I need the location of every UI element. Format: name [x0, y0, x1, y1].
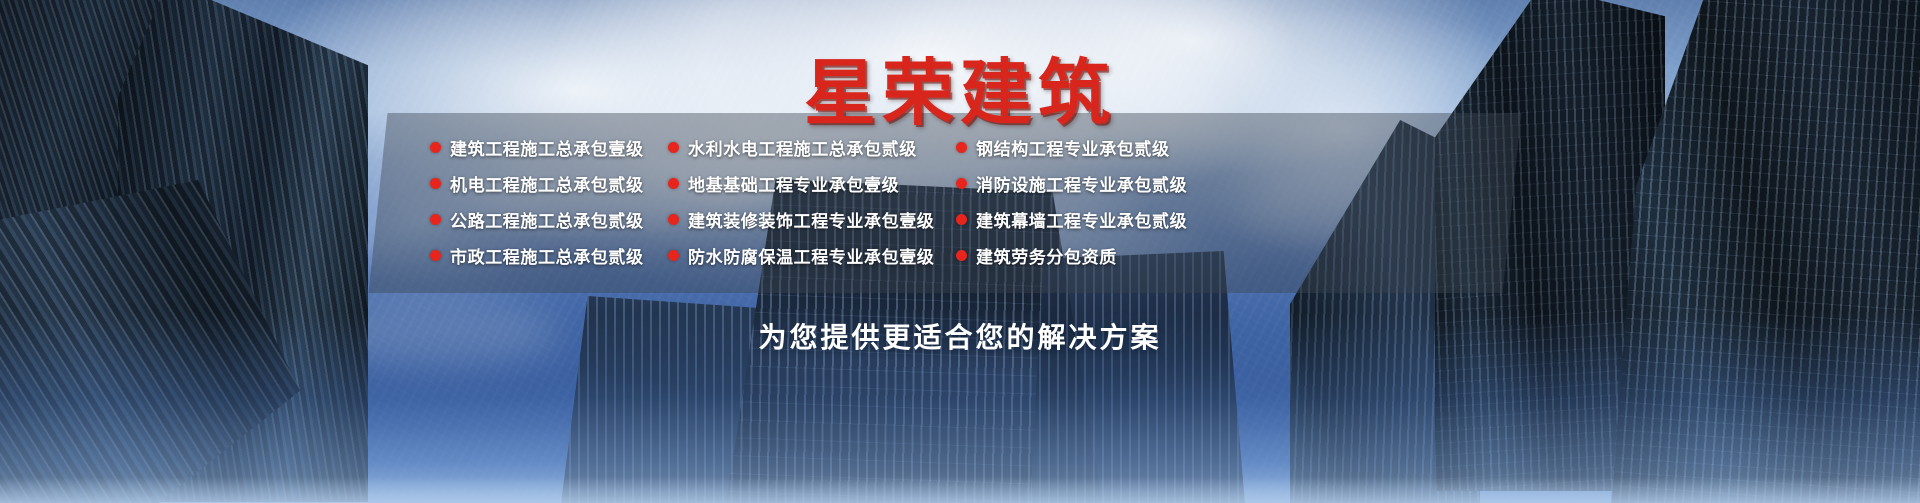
- company-title: 星荣建筑: [0, 34, 1920, 139]
- bullet-dot-icon: [668, 214, 679, 225]
- list-item: 地基基础工程专业承包壹级: [668, 171, 956, 195]
- qualification-label: 地基基础工程专业承包壹级: [688, 171, 899, 196]
- qualification-label: 建筑劳务分包资质: [976, 243, 1117, 268]
- bullet-dot-icon: [668, 142, 679, 153]
- list-item: 建筑幕墙工程专业承包贰级: [956, 207, 1196, 231]
- list-item: 机电工程施工总承包贰级: [430, 171, 668, 195]
- list-item: 建筑劳务分包资质: [956, 243, 1196, 267]
- qualification-column-3: 钢结构工程专业承包贰级 消防设施工程专业承包贰级 建筑幕墙工程专业承包贰级 建筑…: [956, 135, 1196, 293]
- qualification-label: 防水防腐保温工程专业承包壹级: [688, 243, 934, 268]
- qualification-label: 机电工程施工总承包贰级: [450, 171, 644, 196]
- bullet-dot-icon: [668, 250, 679, 261]
- banner-tagline: 为您提供更适合您的解决方案: [0, 316, 1920, 356]
- list-item: 建筑装修装饰工程专业承包壹级: [668, 207, 956, 231]
- bullet-dot-icon: [956, 142, 967, 153]
- bullet-dot-icon: [956, 214, 967, 225]
- qualification-label: 建筑幕墙工程专业承包贰级: [976, 207, 1187, 232]
- qualification-label: 消防设施工程专业承包贰级: [976, 171, 1187, 196]
- bullet-dot-icon: [956, 178, 967, 189]
- bullet-dot-icon: [430, 178, 441, 189]
- list-item: 消防设施工程专业承包贰级: [956, 171, 1196, 195]
- bullet-dot-icon: [430, 214, 441, 225]
- bullet-dot-icon: [430, 250, 441, 261]
- list-item: 防水防腐保温工程专业承包壹级: [668, 243, 956, 267]
- bullet-dot-icon: [956, 250, 967, 261]
- bullet-dot-icon: [430, 142, 441, 153]
- qualification-label: 公路工程施工总承包贰级: [450, 207, 644, 232]
- hero-banner: 星荣建筑 建筑工程施工总承包壹级 机电工程施工总承包贰级 公路工程施工总承包贰级…: [0, 0, 1920, 503]
- qualifications-panel: 建筑工程施工总承包壹级 机电工程施工总承包贰级 公路工程施工总承包贰级 市政工程…: [378, 113, 1512, 293]
- qualification-label: 建筑装修装饰工程专业承包壹级: [688, 207, 934, 232]
- bullet-dot-icon: [668, 178, 679, 189]
- qualification-column-1: 建筑工程施工总承包壹级 机电工程施工总承包贰级 公路工程施工总承包贰级 市政工程…: [430, 135, 668, 293]
- list-item: 市政工程施工总承包贰级: [430, 243, 668, 267]
- list-item: 公路工程施工总承包贰级: [430, 207, 668, 231]
- qualification-column-2: 水利水电工程施工总承包贰级 地基基础工程专业承包壹级 建筑装修装饰工程专业承包壹…: [668, 135, 956, 293]
- qualification-label: 市政工程施工总承包贰级: [450, 243, 644, 268]
